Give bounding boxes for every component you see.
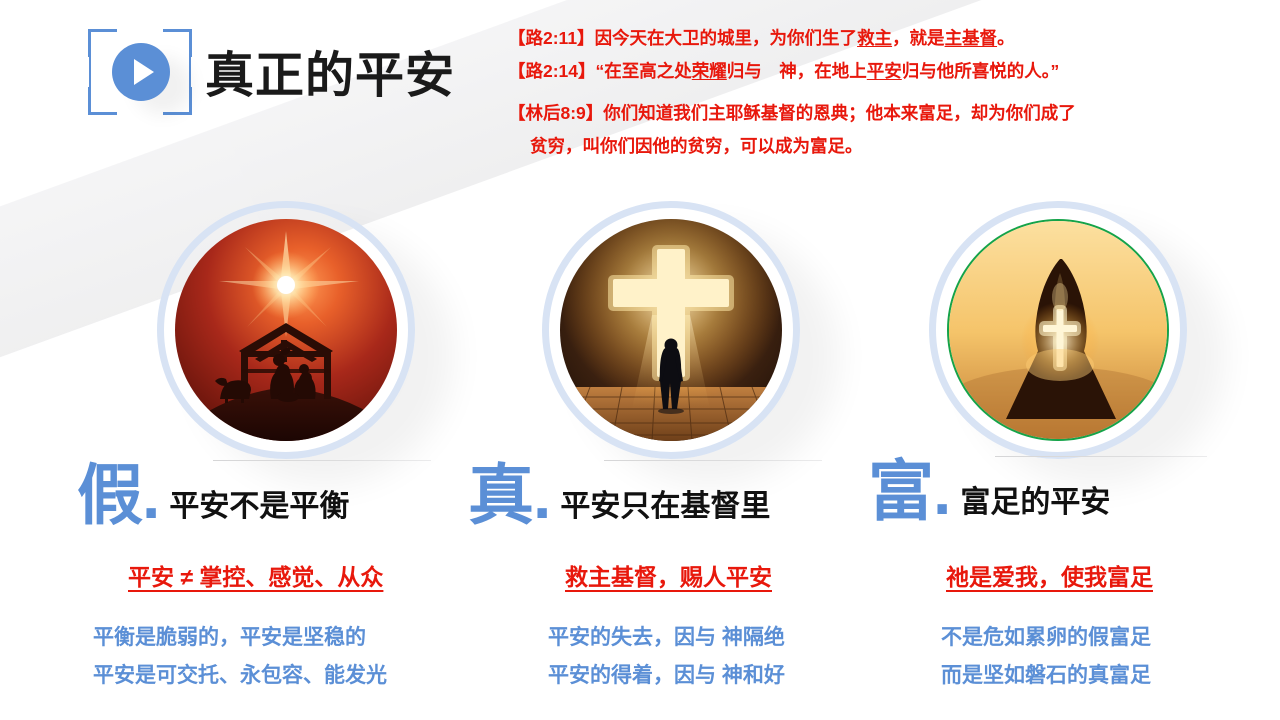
column-3-key-line: 祂是爱我，使我富足 [946,558,1153,592]
column-2-subhead: 平安只在基督里 [560,481,770,525]
verse3-line-2: 贫穷，叫你们因他的贫穷，可以成为富足。 [530,130,1224,163]
scripture-verse-luke-2-14: 【路2:14】“在至高之处荣耀归与 神，在地上平安归与他所喜悦的人。” [508,55,1224,88]
column-3-detail-line-2: 而是坚如磐石的真富足 [941,657,1151,695]
circle-1-photo [175,219,397,441]
logo-bracket-notch-left [84,57,89,87]
verse2-after: 归与他所喜悦的人。” [902,61,1060,81]
column-3-big-char: 富 [868,458,932,524]
column-1-heading: 假 . 平安不是平衡 [77,462,349,528]
verse2-underline-glory: 荣耀 [692,61,727,81]
column-2-big-char: 真 [468,462,532,528]
play-button-icon [88,29,192,115]
verse2-before: “在至高之处 [596,61,692,81]
verse3-text-1: 你们知道我们主耶稣基督的恩典；他本来富足，却为你们成了 [603,103,1076,123]
nativity-illustration [175,219,397,441]
column-1-detail-line-2: 平安是可交托、永包容、能发光 [93,657,387,695]
circle-3-photo [947,219,1169,441]
column-1-big-char: 假 [77,462,141,528]
verse3-line-1: 【林后8:9】你们知道我们主耶稣基督的恩典；他本来富足，却为你们成了 [508,97,1224,130]
scripture-verse-luke-2-11: 【路2:11】因今天在大卫的城里，为你们生了救主，就是主基督。 [508,22,1224,55]
column-2-divider [604,460,822,461]
verse2-underline-peace: 平安 [867,61,902,81]
column-2-key-line: 救主基督，赐人平安 [565,558,772,592]
column-1-details: 平衡是脆弱的，平安是坚稳的 平安是可交托、永包容、能发光 [93,619,387,695]
column-2-detail-line-2: 平安的得着，因与 神和好 [548,657,785,695]
column-2-dot: . [533,462,551,528]
column-1-subhead: 平安不是平衡 [169,481,349,525]
praying-hands-image [947,219,1169,441]
praying-hands-illustration [949,221,1169,441]
verse1-ref: 【路2:11】 [508,28,595,48]
slide-canvas: 真正的平安 【路2:11】因今天在大卫的城里，为你们生了救主，就是主基督。 【路… [0,0,1280,720]
scripture-block: 【路2:11】因今天在大卫的城里，为你们生了救主，就是主基督。 【路2:14】“… [508,22,1224,163]
verse3-ref: 【林后8:9】 [508,103,603,123]
page-title: 真正的平安 [205,36,455,107]
play-circle [112,43,170,101]
verse2-ref: 【路2:14】 [508,61,596,81]
column-1-detail-line-1: 平衡是脆弱的，平安是坚稳的 [93,619,387,657]
column-3-detail-line-1: 不是危如累卵的假富足 [941,619,1151,657]
column-3-subhead: 富足的平安 [960,477,1110,521]
column-2-details: 平安的失去，因与 神隔绝 平安的得着，因与 神和好 [548,619,785,695]
column-1-divider [213,460,431,461]
column-2-heading: 真 . 平安只在基督里 [468,462,770,528]
column-3-dot: . [933,458,951,524]
column-3-divider [995,456,1207,457]
verse1-mid: ，就是 [892,28,945,48]
column-2-detail-line-1: 平安的失去，因与 神隔绝 [548,619,785,657]
nativity-scene-image [175,219,397,441]
column-3-details: 不是危如累卵的假富足 而是坚如磐石的真富足 [941,619,1151,695]
logo-bracket-notch-right [191,57,196,87]
column-1-dot: . [142,462,160,528]
verse1-underline-christ: 主基督 [945,28,998,48]
cross-illustration [560,219,782,441]
verse1-underline-saviour: 救主 [857,28,892,48]
verse2-mid: 归与 神，在地上 [727,61,867,81]
play-triangle-icon [134,59,154,85]
glowing-cross-image [560,219,782,441]
verse1-after: 。 [997,28,1015,48]
column-1-key-line: 平安 ≠ 掌控、感觉、从众 [128,558,383,592]
column-3-heading: 富 . 富足的平安 [868,458,1110,524]
scripture-verse-2cor-8-9: 【林后8:9】你们知道我们主耶稣基督的恩典；他本来富足，却为你们成了 贫穷，叫你… [508,97,1224,163]
circle-2-photo [560,219,782,441]
verse1-before: 因今天在大卫的城里，为你们生了 [595,28,858,48]
